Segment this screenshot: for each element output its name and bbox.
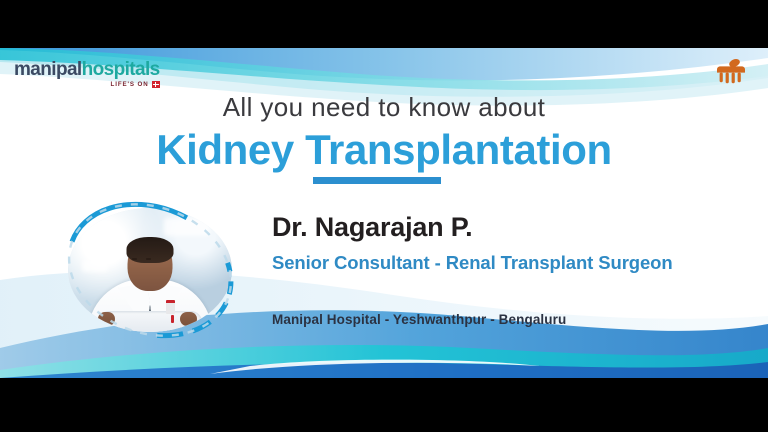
- headline-underline: [313, 177, 441, 184]
- speaker-location: Manipal Hospital - Yeshwanthpur - Bengal…: [272, 312, 566, 327]
- slide-headline: Kidney Transplantation: [0, 126, 768, 174]
- manipal-hospitals-logo: manipalhospitals LIFE'S ON: [14, 60, 160, 88]
- logo-word-hospitals: hospitals: [82, 59, 160, 80]
- logo-wordmark: manipalhospitals: [14, 60, 160, 79]
- logo-word-manipal: manipal: [14, 59, 82, 80]
- letterbox-top: [0, 0, 768, 48]
- photo-dashed-ring: [57, 200, 243, 340]
- slide-eyebrow: All you need to know about: [0, 92, 768, 123]
- speaker-role: Senior Consultant - Renal Transplant Sur…: [272, 252, 702, 274]
- logo-tagline: LIFE'S ON: [14, 81, 160, 88]
- speaker-name: Dr. Nagarajan P.: [272, 212, 472, 243]
- orange-abstract-logo-icon: [714, 57, 748, 87]
- speaker-photo: [57, 200, 243, 340]
- video-frame: manipalhospitals LIFE'S ON All you need …: [0, 0, 768, 432]
- presentation-slide: manipalhospitals LIFE'S ON All you need …: [0, 48, 768, 378]
- logo-tagline-text: LIFE'S ON: [111, 81, 149, 88]
- letterbox-bottom: [0, 378, 768, 432]
- logo-cross-icon: [152, 81, 160, 88]
